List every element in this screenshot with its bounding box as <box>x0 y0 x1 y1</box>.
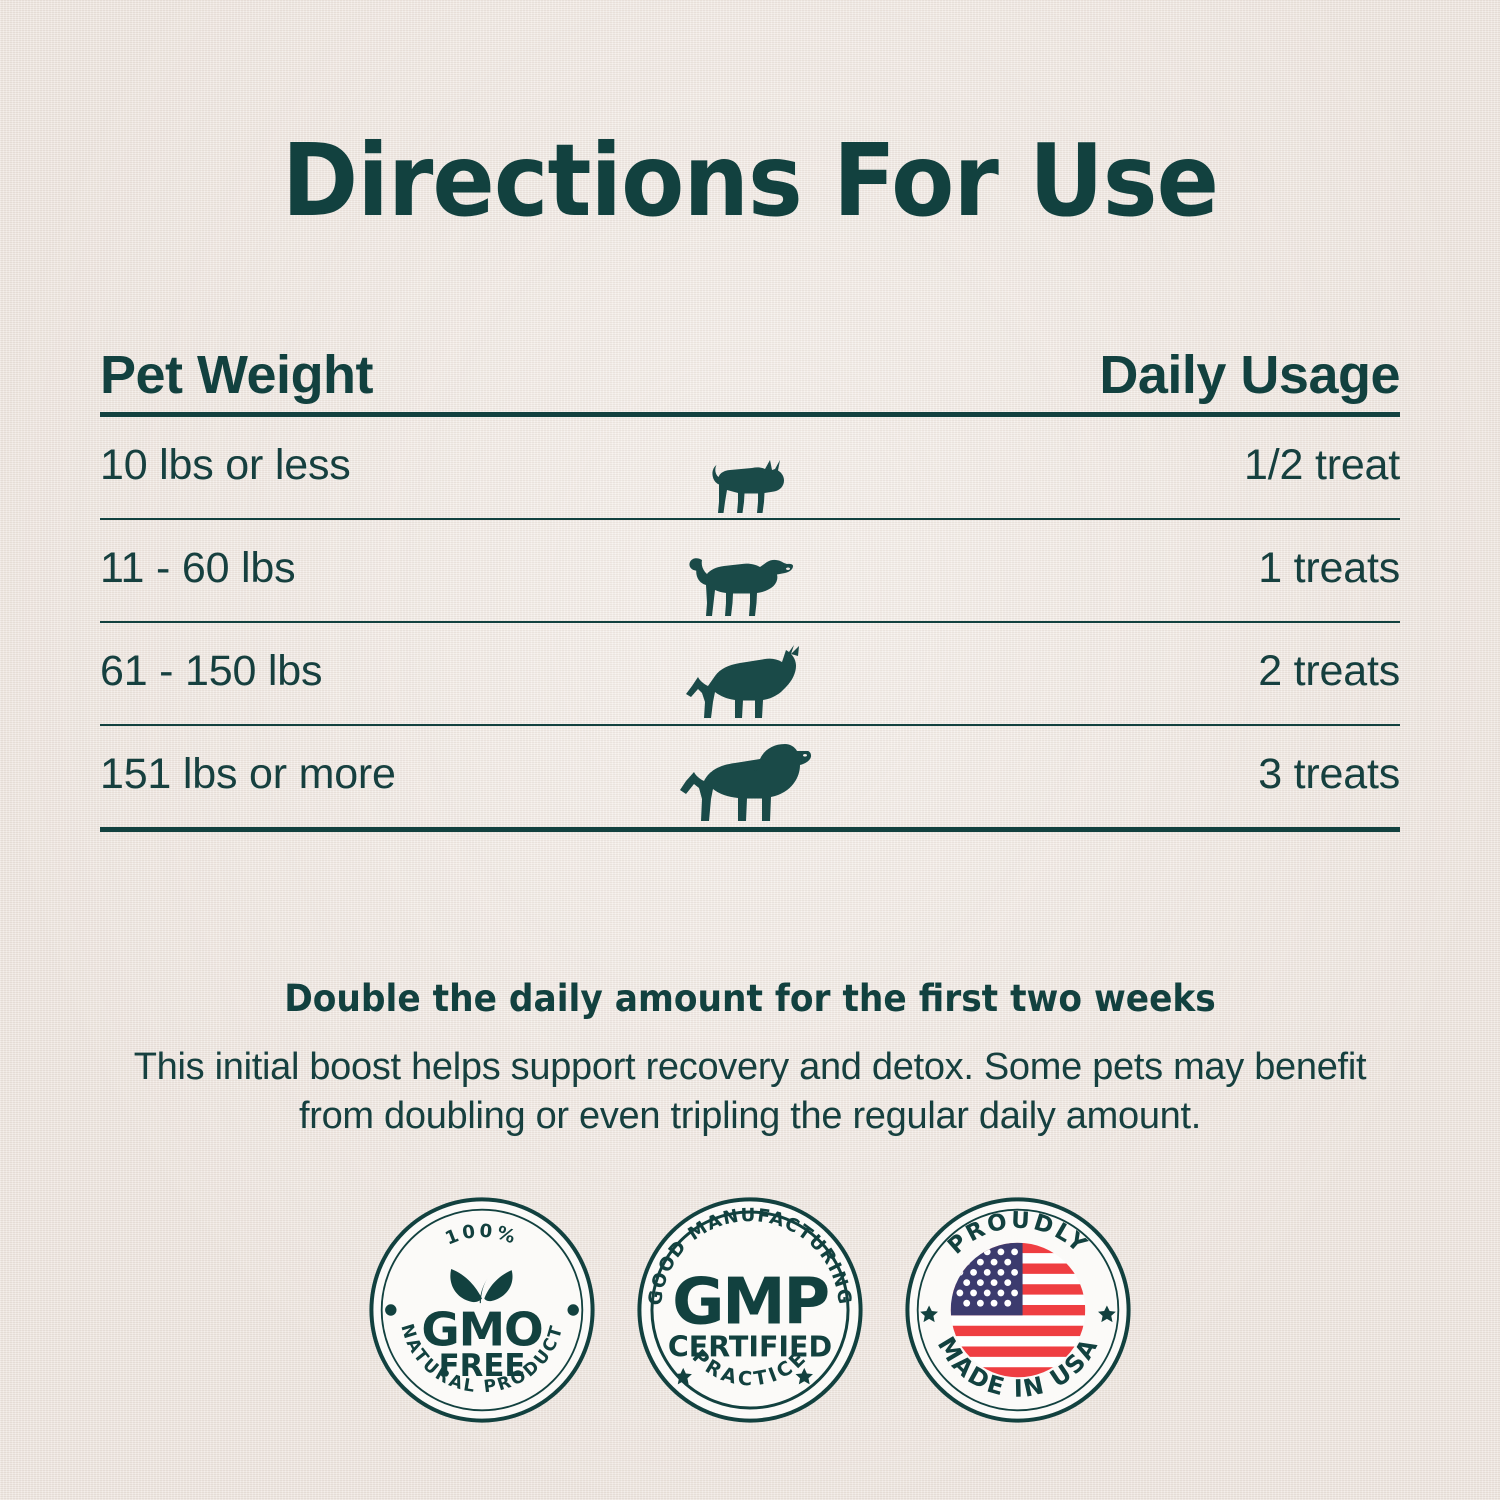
cell-daily-usage: 2 treats <box>1258 647 1400 700</box>
dosage-table: Pet Weight Daily Usage 10 lbs or less 1/… <box>100 344 1400 832</box>
gmp-main-text-1: GMP <box>672 1266 828 1340</box>
column-header-daily-usage: Daily Usage <box>1099 344 1400 406</box>
cell-daily-usage: 1/2 treat <box>1244 441 1400 494</box>
dot-right-icon <box>568 1304 579 1315</box>
table-bottom-divider <box>100 827 1400 832</box>
note-body: This initial boost helps support recover… <box>105 1043 1395 1140</box>
cell-pet-weight: 10 lbs or less <box>100 441 351 494</box>
column-header-pet-weight: Pet Weight <box>100 344 373 406</box>
table-row: 10 lbs or less 1/2 treat <box>100 417 1400 518</box>
table-row: 151 lbs or more 3 treats <box>100 726 1400 827</box>
page-title: Directions For Use <box>60 128 1440 233</box>
table-row: 61 - 150 lbs 2 treats <box>100 623 1400 724</box>
cell-pet-weight: 61 - 150 lbs <box>100 647 322 700</box>
dot-left-icon <box>385 1304 396 1315</box>
cell-pet-weight: 11 - 60 lbs <box>100 544 295 597</box>
gmp-certified-badge: GOOD MANUFACTURING GMP CERTIFIED PRACTIC… <box>636 1196 864 1424</box>
table-header-row: Pet Weight Daily Usage <box>100 344 1400 412</box>
gmo-free-badge: 100% GMO FREE NATURAL PRODUCT <box>368 1196 596 1424</box>
cell-pet-weight: 151 lbs or more <box>100 750 396 803</box>
note-heading: Double the daily amount for the first tw… <box>53 977 1448 1020</box>
cell-daily-usage: 1 treats <box>1258 544 1400 597</box>
cell-daily-usage: 3 treats <box>1258 750 1400 803</box>
made-in-usa-badge: PROUDLY <box>904 1196 1132 1424</box>
certification-badges: 100% GMO FREE NATURAL PRODUCT GOOD MANUF… <box>0 1196 1500 1424</box>
directions-for-use-panel: Directions For Use Pet Weight Daily Usag… <box>0 0 1500 1500</box>
table-row: 11 - 60 lbs 1 treats <box>100 520 1400 621</box>
